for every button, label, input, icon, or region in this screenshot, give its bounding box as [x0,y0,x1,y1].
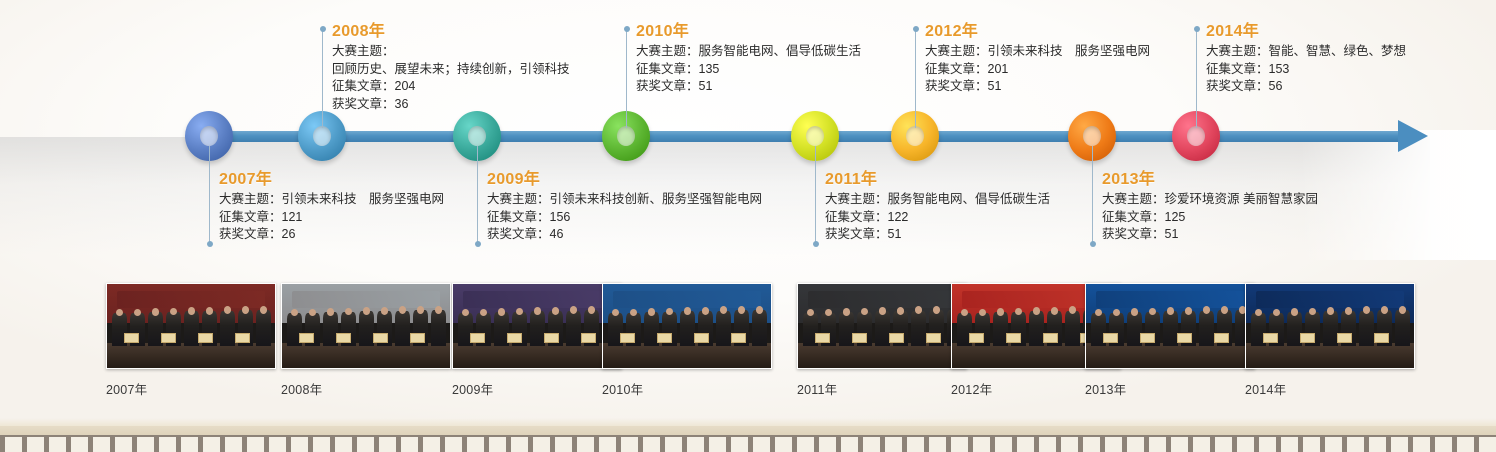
timeline-stem [209,146,210,244]
photo-certificate [198,333,213,343]
photo-certificate [815,333,830,343]
photo-stage-floor [1086,343,1254,368]
entry-line-0: 大赛主题：服务智能电网、倡导低碳生活 [636,43,861,61]
gallery-photo[interactable] [452,283,622,369]
gallery-caption: 2013年 [1085,379,1255,398]
entry-line-2: 征集文章：204 [332,78,570,96]
entry-line-0: 大赛主题：引领未来科技 服务坚强电网 [219,191,444,209]
entry-year-label: 2011年 [825,170,1050,189]
photo-certificate [620,333,635,343]
photo-certificate [507,333,522,343]
photo-certificate [373,333,388,343]
entry-line-0: 大赛主题： [332,43,570,61]
timeline-entry-2014: 2014年大赛主题：智能、智慧、绿色、梦想征集文章：153获奖文章：56 [1206,22,1406,96]
gallery-item[interactable]: 2014年 [1245,283,1415,398]
timeline-stem-dot [475,241,481,247]
entry-line-0: 大赛主题：珍爱环境资源 美丽智慧家园 [1102,191,1318,209]
timeline-stem-dot [207,241,213,247]
gallery-caption: 2011年 [797,379,967,398]
timeline-stem-dot [1194,26,1200,32]
film-strip-perforations [0,435,1496,452]
gallery-caption: 2010年 [602,379,772,398]
photo-certificate [694,333,709,343]
timeline-stem [1196,28,1197,128]
entry-line-0: 大赛主题：智能、智慧、绿色、梦想 [1206,43,1406,61]
photo-stage-floor [798,343,966,368]
timeline-stem-dot [913,26,919,32]
photo-certificate [969,333,984,343]
photo-certificate [1006,333,1021,343]
entry-line-1: 征集文章：201 [925,61,1150,79]
photo-banner [1096,291,1244,308]
entry-line-2: 获奖文章：51 [925,78,1150,96]
entry-year-label: 2008年 [332,22,570,41]
entry-line-2: 获奖文章：46 [487,226,762,244]
entry-line-1: 征集文章：153 [1206,61,1406,79]
entry-line-0: 大赛主题：引领未来科技创新、服务坚强智能电网 [487,191,762,209]
timeline-entry-2012: 2012年大赛主题：引领未来科技 服务坚强电网征集文章：201获奖文章：51 [925,22,1150,96]
photo-certificate [1103,333,1118,343]
gallery-item[interactable]: 2011年 [797,283,967,398]
photo-banner [463,291,611,308]
gallery-item[interactable]: 2009年 [452,283,622,398]
gallery-caption: 2009年 [452,379,622,398]
timeline-stem [1092,146,1093,244]
gallery-item[interactable]: 2010年 [602,283,772,398]
gallery-item[interactable]: 2007年 [106,283,276,398]
photo-certificate [544,333,559,343]
timeline-stem [626,28,627,128]
entry-line-2: 获奖文章：51 [1102,226,1318,244]
photo-certificate [1140,333,1155,343]
photo-certificate [731,333,746,343]
gallery-photo[interactable] [1245,283,1415,369]
entry-line-3: 获奖文章：36 [332,96,570,114]
timeline-stem [322,28,323,128]
photo-certificate [926,333,941,343]
entry-line-1: 征集文章：125 [1102,209,1318,227]
gallery-photo[interactable] [106,283,276,369]
entry-year-label: 2013年 [1102,170,1318,189]
timeline-entry-2009: 2009年大赛主题：引领未来科技创新、服务坚强智能电网征集文章：156获奖文章：… [487,170,762,244]
entry-year-label: 2010年 [636,22,861,41]
timeline-entry-2010: 2010年大赛主题：服务智能电网、倡导低碳生活征集文章：135获奖文章：51 [636,22,861,96]
photo-certificate [1043,333,1058,343]
gallery-item[interactable]: 2013年 [1085,283,1255,398]
timeline-arrow-icon [1398,120,1428,152]
photo-banner [613,291,761,308]
photo-stage-floor [1246,343,1414,368]
gallery-photo[interactable] [797,283,967,369]
photo-certificate [1263,333,1278,343]
photo-gallery: 2007年2008年2009年2010年2011年2012年2013年2014年 [0,283,1496,393]
photo-stage-floor [453,343,621,368]
photo-stage-floor [603,343,771,368]
entry-line-2: 获奖文章：56 [1206,78,1406,96]
entry-line-2: 获奖文章：51 [825,226,1050,244]
timeline-entry-2011: 2011年大赛主题：服务智能电网、倡导低碳生活征集文章：122获奖文章：51 [825,170,1050,244]
photo-banner [292,291,440,308]
entry-line-1: 征集文章：122 [825,209,1050,227]
photo-banner [808,291,956,308]
timeline-stem-dot [1090,241,1096,247]
entry-line-1: 征集文章：121 [219,209,444,227]
timeline-stem-dot [320,26,326,32]
entry-year-label: 2007年 [219,170,444,189]
gallery-caption: 2007年 [106,379,276,398]
timeline-entry-2013: 2013年大赛主题：珍爱环境资源 美丽智慧家园征集文章：125获奖文章：51 [1102,170,1318,244]
film-strip-top-fade [0,418,1496,426]
entry-line-0: 大赛主题：引领未来科技 服务坚强电网 [925,43,1150,61]
photo-certificate [657,333,672,343]
photo-banner [117,291,265,308]
timeline-infographic: 2007年大赛主题：引领未来科技 服务坚强电网征集文章：121获奖文章：2620… [0,0,1496,452]
photo-certificate [235,333,250,343]
photo-certificate [852,333,867,343]
timeline-stem [815,146,816,244]
entry-year-label: 2014年 [1206,22,1406,41]
timeline-stem [915,28,916,128]
timeline-entry-2007: 2007年大赛主题：引领未来科技 服务坚强电网征集文章：121获奖文章：26 [219,170,444,244]
photo-certificate [410,333,425,343]
photo-certificate [161,333,176,343]
photo-certificate [1214,333,1229,343]
photo-banner [1256,291,1404,308]
timeline-entry-2008: 2008年大赛主题：回顾历史、展望未来；持续创新，引领科技征集文章：204获奖文… [332,22,570,113]
gallery-photo[interactable] [602,283,772,369]
gallery-photo[interactable] [1085,283,1255,369]
photo-certificate [1337,333,1352,343]
entry-year-label: 2009年 [487,170,762,189]
gallery-caption: 2008年 [281,379,451,398]
gallery-item[interactable]: 2008年 [281,283,451,398]
photo-certificate [124,333,139,343]
photo-certificate [1177,333,1192,343]
gallery-photo[interactable] [281,283,451,369]
photo-stage-floor [282,343,450,368]
photo-certificate [1374,333,1389,343]
photo-certificate [1300,333,1315,343]
entry-line-1: 征集文章：135 [636,61,861,79]
entry-year-label: 2012年 [925,22,1150,41]
entry-line-2: 获奖文章：26 [219,226,444,244]
timeline-stem-dot [624,26,630,32]
photo-certificate [470,333,485,343]
entry-line-1: 回顾历史、展望未来；持续创新，引领科技 [332,61,570,79]
photo-stage-floor [107,343,275,368]
photo-certificate [581,333,596,343]
photo-certificate [889,333,904,343]
gallery-caption: 2014年 [1245,379,1415,398]
entry-line-1: 征集文章：156 [487,209,762,227]
photo-certificate [336,333,351,343]
timeline-stem-dot [813,241,819,247]
timeline-stem [477,146,478,244]
entry-line-0: 大赛主题：服务智能电网、倡导低碳生活 [825,191,1050,209]
photo-certificate [299,333,314,343]
entry-line-2: 获奖文章：51 [636,78,861,96]
